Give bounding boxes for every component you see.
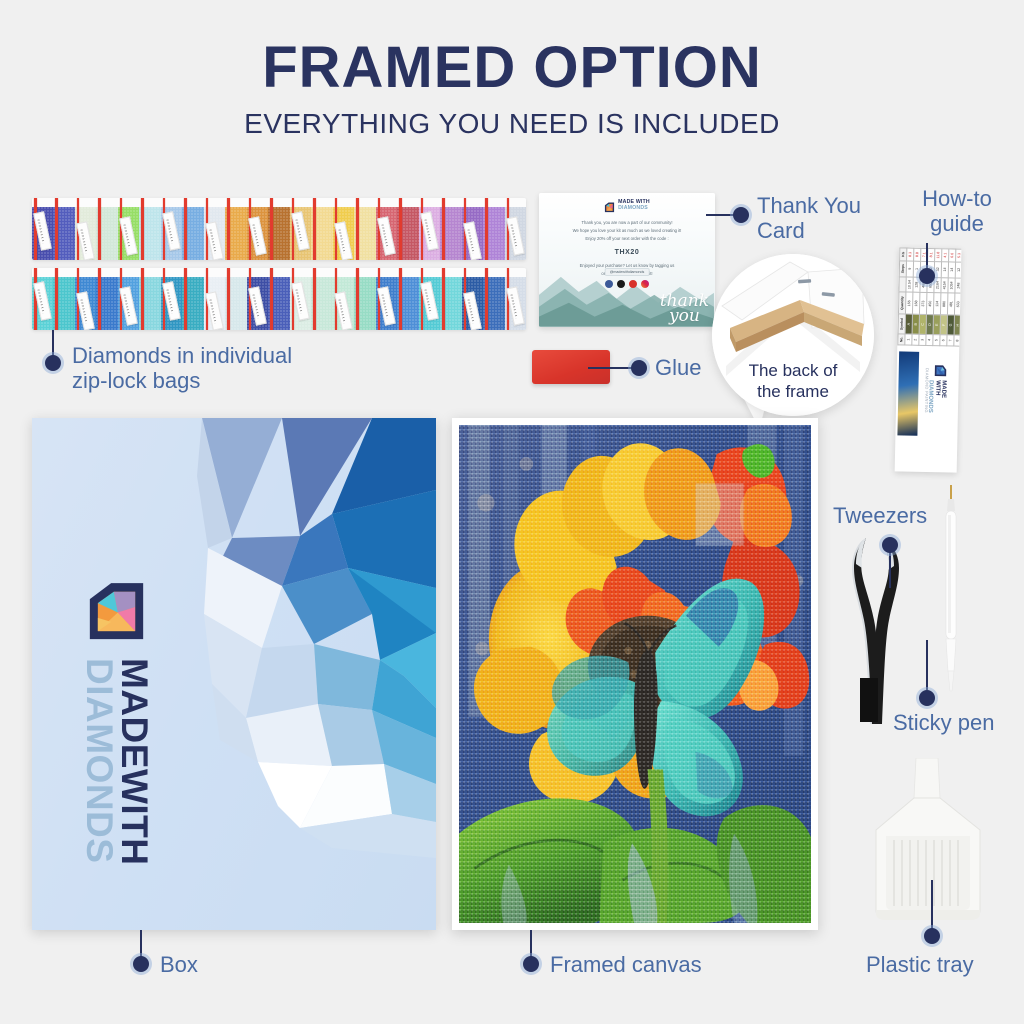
bag-zip-seal (270, 268, 273, 330)
box-brand-lockup: MADEWITH DIAMONDS (82, 583, 152, 865)
card-message-line-3: Enjoy 20% off your next order with the c… (553, 235, 701, 243)
bag-zip-seal (184, 268, 187, 330)
guide-preview-image (897, 351, 919, 435)
zip-lock-bag (225, 198, 247, 260)
canvas-artwork (459, 425, 811, 923)
card-brand-lockup: MADE WITH DIAMONDS (539, 200, 715, 211)
cell-no: 8 (954, 335, 961, 346)
leader-tweezers (889, 552, 891, 588)
zip-lock-bag (204, 268, 226, 330)
zip-lock-bag (462, 198, 484, 260)
callout-dot-diamonds (45, 355, 61, 371)
bag-zip-seal (356, 268, 359, 330)
bag-zip-seal (141, 198, 144, 260)
bag-zip-seal (98, 268, 101, 330)
bag-zip-seal (98, 198, 101, 260)
bag-zip-seal (227, 198, 230, 260)
instagram-icon (641, 280, 649, 288)
bag-zip-seal (442, 198, 445, 260)
zip-lock-bag (376, 268, 398, 330)
callout-dot-sticky-pen (919, 690, 935, 706)
callout-label-framed-canvas: Framed canvas (550, 952, 770, 977)
callout-label-diamonds: Diamonds in individual zip-lock bags (72, 343, 352, 394)
callout-label-box: Box (160, 952, 280, 977)
plastic-tray-illustration (868, 758, 988, 924)
zip-lock-bag (32, 268, 54, 330)
zip-lock-bag (161, 198, 183, 260)
bag-zip-seal (356, 198, 359, 260)
zip-lock-bag (182, 198, 204, 260)
tiktok-icon (617, 280, 625, 288)
cell-steps: 12 (955, 262, 961, 278)
callout-dot-box (133, 956, 149, 972)
bag-zip-seal (442, 268, 445, 330)
leader-plastic-tray (931, 880, 933, 930)
bag-zip-seal (184, 198, 187, 260)
leader-diamonds (52, 330, 54, 356)
zip-lock-bag (75, 198, 97, 260)
zip-lock-bag (247, 198, 269, 260)
zip-lock-bag (397, 198, 419, 260)
frame-back-bubble: The back of the frame (712, 254, 874, 416)
product-box: MADEWITH DIAMONDS (32, 418, 436, 930)
page-subtitle: EVERYTHING YOU NEED IS INCLUDED (0, 108, 1024, 140)
callout-dot-tweezers (882, 537, 898, 553)
zip-lock-bag (247, 268, 269, 330)
cell-qty2: 248 (955, 278, 961, 294)
zip-lock-bag (419, 268, 441, 330)
card-handle-pill: @madewithdiamonds (605, 268, 650, 276)
bag-zip-seal (399, 198, 402, 260)
bag-zip-seal (270, 198, 273, 260)
zip-lock-bag (462, 268, 484, 330)
bag-zip-seal (485, 268, 488, 330)
zip-lock-bag (268, 198, 290, 260)
zip-lock-bag (32, 198, 54, 260)
callout-dot-framed-canvas (523, 956, 539, 972)
leader-glue (588, 367, 636, 369)
zip-lock-bag (505, 198, 526, 260)
card-message-line-2: We hope you love your kit as much as we … (553, 227, 701, 235)
zip-lock-bag (96, 198, 118, 260)
cell-no: 9 (961, 335, 962, 346)
callout-label-sticky-pen: Sticky pen (893, 710, 1024, 735)
zip-lock-bag (483, 198, 505, 260)
callout-label-thank-you: Thank You Card (757, 193, 887, 244)
callout-dot-how-to (919, 268, 935, 284)
infographic-root: FRAMED OPTION EVERYTHING YOU NEED IS INC… (0, 0, 1024, 1024)
card-social-icons (605, 280, 649, 288)
guide-chart-table: No. Symbol Quantity Steps KG 1A16610.549… (897, 247, 961, 347)
youtube-icon (629, 280, 637, 288)
zip-lock-bag (311, 198, 333, 260)
card-promo-code: THX20 (553, 246, 701, 259)
cell-kg: 5.3 (956, 249, 962, 262)
cell-symbol: H (954, 315, 961, 335)
zip-lock-bag (397, 268, 419, 330)
sunflower-butterfly-painting (459, 425, 811, 923)
zip-lock-bag (376, 198, 398, 260)
callout-label-how-to: How-to guide (893, 186, 1021, 237)
card-brand-text: MADE WITH DIAMONDS (618, 200, 650, 211)
bag-zip-seal (141, 268, 144, 330)
bag-zip-seal (485, 198, 488, 260)
facebook-icon (605, 280, 613, 288)
callout-dot-glue (631, 360, 647, 376)
bag-zip-seal (227, 268, 230, 330)
bag-zip-seal (55, 198, 58, 260)
tweezers-illustration (846, 528, 906, 728)
guide-caption: DIAMOND PAINTING (924, 368, 930, 413)
zip-lock-bag (354, 198, 376, 260)
zip-lock-bag-row-bottom (32, 268, 526, 330)
card-message-line-1: Thank you, you are now a part of our com… (553, 219, 701, 227)
thank-you-card: MADE WITH DIAMONDS Thank you, you are no… (539, 193, 715, 327)
bag-zip-seal (313, 198, 316, 260)
zip-lock-bag (311, 268, 333, 330)
zip-lock-bag (182, 268, 204, 330)
box-brand-text: MADEWITH DIAMONDS (82, 658, 152, 865)
cell-qty: 633 (954, 293, 961, 315)
zip-lock-bag (333, 268, 355, 330)
bag-zip-seal (55, 268, 58, 330)
bag-zip-seal (399, 268, 402, 330)
zip-lock-bag (483, 268, 505, 330)
page-title: FRAMED OPTION (0, 34, 1024, 101)
zip-lock-bag (204, 198, 226, 260)
callout-dot-plastic-tray (924, 928, 940, 944)
script-line-2: you (669, 306, 700, 326)
zip-lock-bag (96, 268, 118, 330)
zip-lock-bag (139, 198, 161, 260)
brand-logo-icon (85, 581, 149, 650)
plastic-tray-tool (868, 758, 988, 924)
zip-lock-bag (118, 198, 140, 260)
brand-logo-icon (604, 200, 615, 211)
callout-dot-thank-you (733, 207, 749, 223)
zip-lock-bag (53, 198, 75, 260)
guide-brand-text: MADE WITH DIAMONDS (927, 380, 947, 413)
leader-sticky-pen (926, 640, 928, 690)
table-row: 8H633248125.3 (954, 249, 962, 346)
card-social-handle: @madewithdiamonds (605, 268, 650, 276)
framed-canvas (452, 418, 818, 930)
zip-lock-bag (139, 268, 161, 330)
zip-lock-bag (225, 268, 247, 330)
bag-zip-seal (313, 268, 316, 330)
tweezers-tool (846, 528, 906, 728)
zip-lock-bag (161, 268, 183, 330)
callout-label-frame-back: The back of the frame (712, 361, 874, 402)
zip-lock-bag (440, 268, 462, 330)
card-script-thankyou: thank you (660, 294, 709, 323)
zip-lock-bag (290, 268, 312, 330)
zip-lock-bag (419, 198, 441, 260)
sticky-pen-illustration (938, 485, 964, 695)
zip-lock-bag (75, 268, 97, 330)
guide-color-chart: No. Symbol Quantity Steps KG 1A16610.549… (897, 247, 961, 348)
zip-lock-bag (118, 268, 140, 330)
zip-lock-bag (290, 198, 312, 260)
sticky-pen-tool (938, 485, 964, 695)
guide-brand-lockup: MADE WITH DIAMONDS (927, 364, 947, 413)
zip-lock-bag (333, 198, 355, 260)
brand-logo-icon (928, 364, 946, 377)
zip-lock-bag (505, 268, 526, 330)
zip-lock-bag (268, 268, 290, 330)
leader-thank-you (706, 214, 734, 216)
zip-lock-bag-row-top (32, 198, 526, 260)
zip-lock-bag (440, 198, 462, 260)
zip-lock-bag (354, 268, 376, 330)
zip-lock-bag (53, 268, 75, 330)
callout-label-plastic-tray: Plastic tray (866, 952, 1024, 977)
